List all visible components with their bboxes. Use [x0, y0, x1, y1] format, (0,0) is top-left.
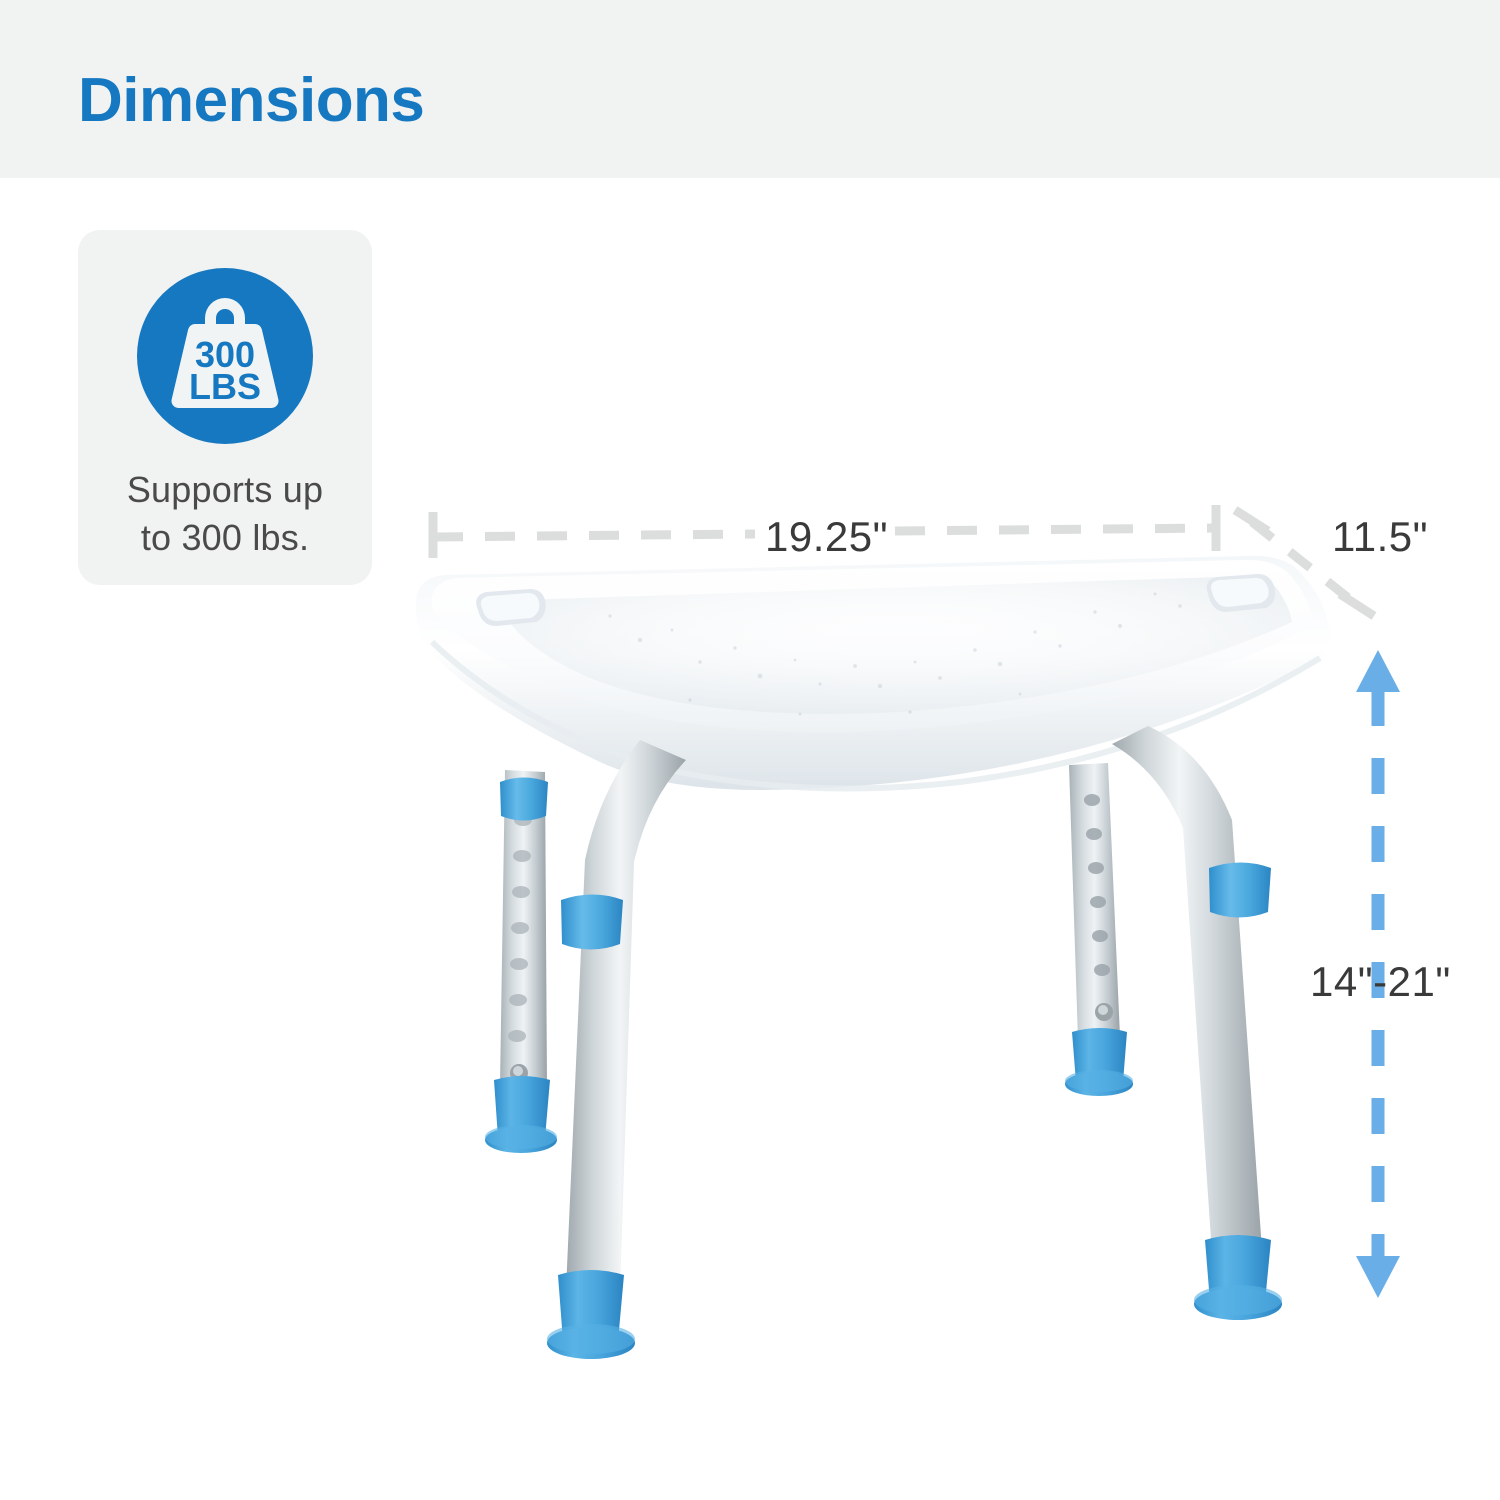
leg-back-left	[485, 770, 557, 1153]
leg-front-left	[547, 740, 686, 1359]
seat-handle-right	[1207, 574, 1275, 612]
foot-front-left	[547, 1270, 635, 1359]
shower-bench-illustration	[0, 0, 1500, 1500]
foot-back-right	[1065, 1028, 1133, 1096]
seat-handle-left	[476, 589, 545, 626]
dimension-label-depth: 11.5"	[1332, 513, 1428, 561]
dimension-label-height: 14"-21"	[1310, 958, 1451, 1006]
leg-back-right	[1065, 763, 1133, 1096]
foot-front-right	[1194, 1235, 1282, 1320]
dimension-label-width: 19.25"	[765, 513, 888, 561]
foot-back-left	[485, 1076, 557, 1153]
leg-front-right	[1112, 726, 1282, 1320]
bench-seat	[416, 556, 1331, 790]
